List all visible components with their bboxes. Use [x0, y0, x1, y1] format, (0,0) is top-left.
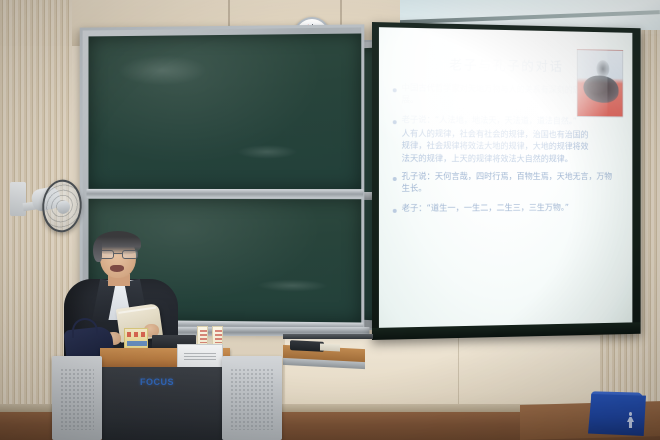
wall-fan[interactable]: [10, 176, 80, 238]
slide-bullet: 孔子说：天何言哉，四时行焉，百物生焉，天地无言，万物生长。: [393, 171, 618, 196]
slide-sub-line: 法天的规律，上天的规律将效法大自然的规律。: [402, 153, 618, 166]
classroom-scene: 老子与孔子的对话 中国古代哲学家对天地万物与人的关系有深刻的思考与发展。 老子说…: [0, 0, 660, 440]
mouth: [110, 265, 124, 272]
bullet-dot-icon: [393, 177, 397, 181]
lectern[interactable]: FOCUS: [52, 330, 282, 440]
bullet-dot-icon: [393, 120, 397, 124]
slide-content: 老子与孔子的对话 中国古代哲学家对天地万物与人的关系有深刻的思考与发展。 老子说…: [379, 27, 632, 328]
lectern-speaker-left: [52, 356, 102, 440]
slide-photo: [577, 49, 623, 117]
slide-bullet-text: 老子：“道生一，一生二，二生三，三生万物。”: [402, 202, 569, 215]
lectern-speaker-right: [222, 356, 282, 440]
podium-box-yellow: [124, 328, 148, 350]
hair-side: [93, 240, 102, 262]
fan-cage-icon: [40, 176, 83, 235]
bag-strap: [72, 318, 98, 338]
speaker-grille-icon: [60, 368, 94, 430]
side-table-equipment-dark: [290, 340, 324, 352]
blackboard-middle-rail: [87, 189, 364, 198]
bullet-dot-icon: [393, 88, 397, 92]
screen-surface: 老子与孔子的对话 中国古代哲学家对天地万物与人的关系有深刻的思考与发展。 老子说…: [379, 27, 632, 328]
podium-white-device: [177, 344, 223, 368]
bullet-dot-icon: [393, 208, 397, 212]
litter-person-icon: [626, 412, 635, 428]
slide-bullet-text: 老子说：“人法地，地法天，天法道，道法自然。”: [402, 114, 577, 128]
recycling-bin[interactable]: [588, 394, 646, 436]
lectern-brand-label: FOCUS: [140, 377, 174, 387]
slide-bullet: 老子：“道生一，一生二，二生三，三生万物。”: [393, 202, 618, 215]
side-table-equipment-light: [320, 343, 340, 351]
wall-strip: [283, 334, 373, 339]
projection-screen: 老子与孔子的对话 中国古代哲学家对天地万物与人的关系有深刻的思考与发展。 老子说…: [372, 22, 641, 340]
slide-bullet-text: 孔子说：天何言哉，四时行焉，百物生焉，天地无言，万物生长。: [402, 171, 618, 196]
blackboard-upper-panel: [89, 33, 362, 190]
speaker-grille-icon: [230, 368, 274, 430]
slide-sub-line: 规律，社会规律将效法大地的规律，大地的规律将效: [402, 140, 618, 153]
